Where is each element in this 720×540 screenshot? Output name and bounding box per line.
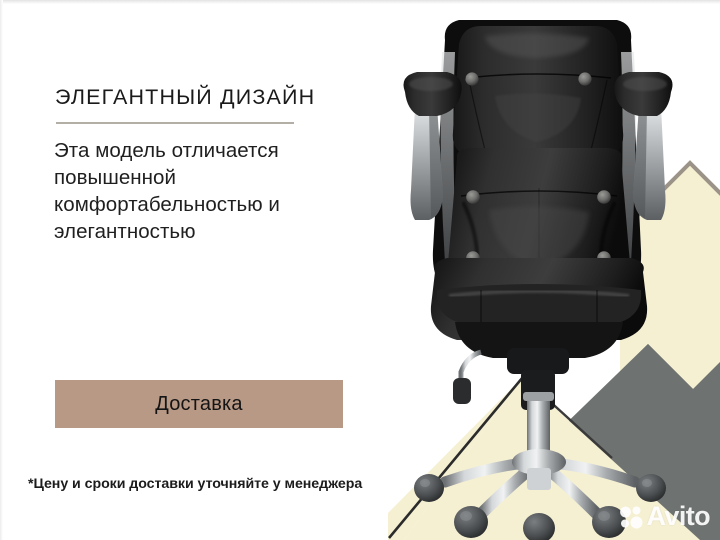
caster-wheel	[414, 474, 444, 502]
base-arm-right-front	[547, 468, 597, 514]
chair-tufting-button	[466, 190, 480, 204]
product-image-office-chair	[385, 0, 720, 540]
product-banner: ЭЛЕГАНТНЫЙ ДИЗАЙН Эта модель отличается …	[0, 0, 720, 540]
chair-tufting-button	[465, 72, 478, 85]
caster-highlight	[420, 479, 430, 487]
title-divider	[56, 122, 294, 124]
caster-highlight	[642, 479, 652, 487]
caster-wheel	[592, 506, 626, 538]
chair-tilt-lever-knob	[453, 378, 471, 404]
caster-highlight	[460, 511, 472, 521]
footnote-text: *Цену и сроки доставки уточняйте у менед…	[28, 476, 362, 492]
page-title: ЭЛЕГАНТНЫЙ ДИЗАЙН	[55, 86, 365, 110]
caster-wheel	[636, 474, 666, 502]
left-armrest-highlight	[409, 77, 453, 91]
delivery-button[interactable]: Доставка	[55, 380, 343, 428]
chair-tufting-button	[597, 190, 611, 204]
chair-tufting-button	[578, 72, 591, 85]
right-armrest-highlight	[623, 77, 667, 91]
caster-wheel	[454, 506, 488, 538]
chair-gas-cylinder-collar	[523, 392, 554, 401]
chair-base-star	[445, 449, 635, 514]
base-hub-collar	[527, 468, 551, 490]
description-text: Эта модель отличается повышенной комфорт…	[54, 137, 359, 245]
caster-wheel	[523, 513, 555, 540]
text-content-column: ЭЛЕГАНТНЫЙ ДИЗАЙН Эта модель отличается …	[0, 0, 390, 540]
chair-tilt-lever-arm	[461, 352, 481, 382]
caster-highlight	[598, 511, 610, 521]
